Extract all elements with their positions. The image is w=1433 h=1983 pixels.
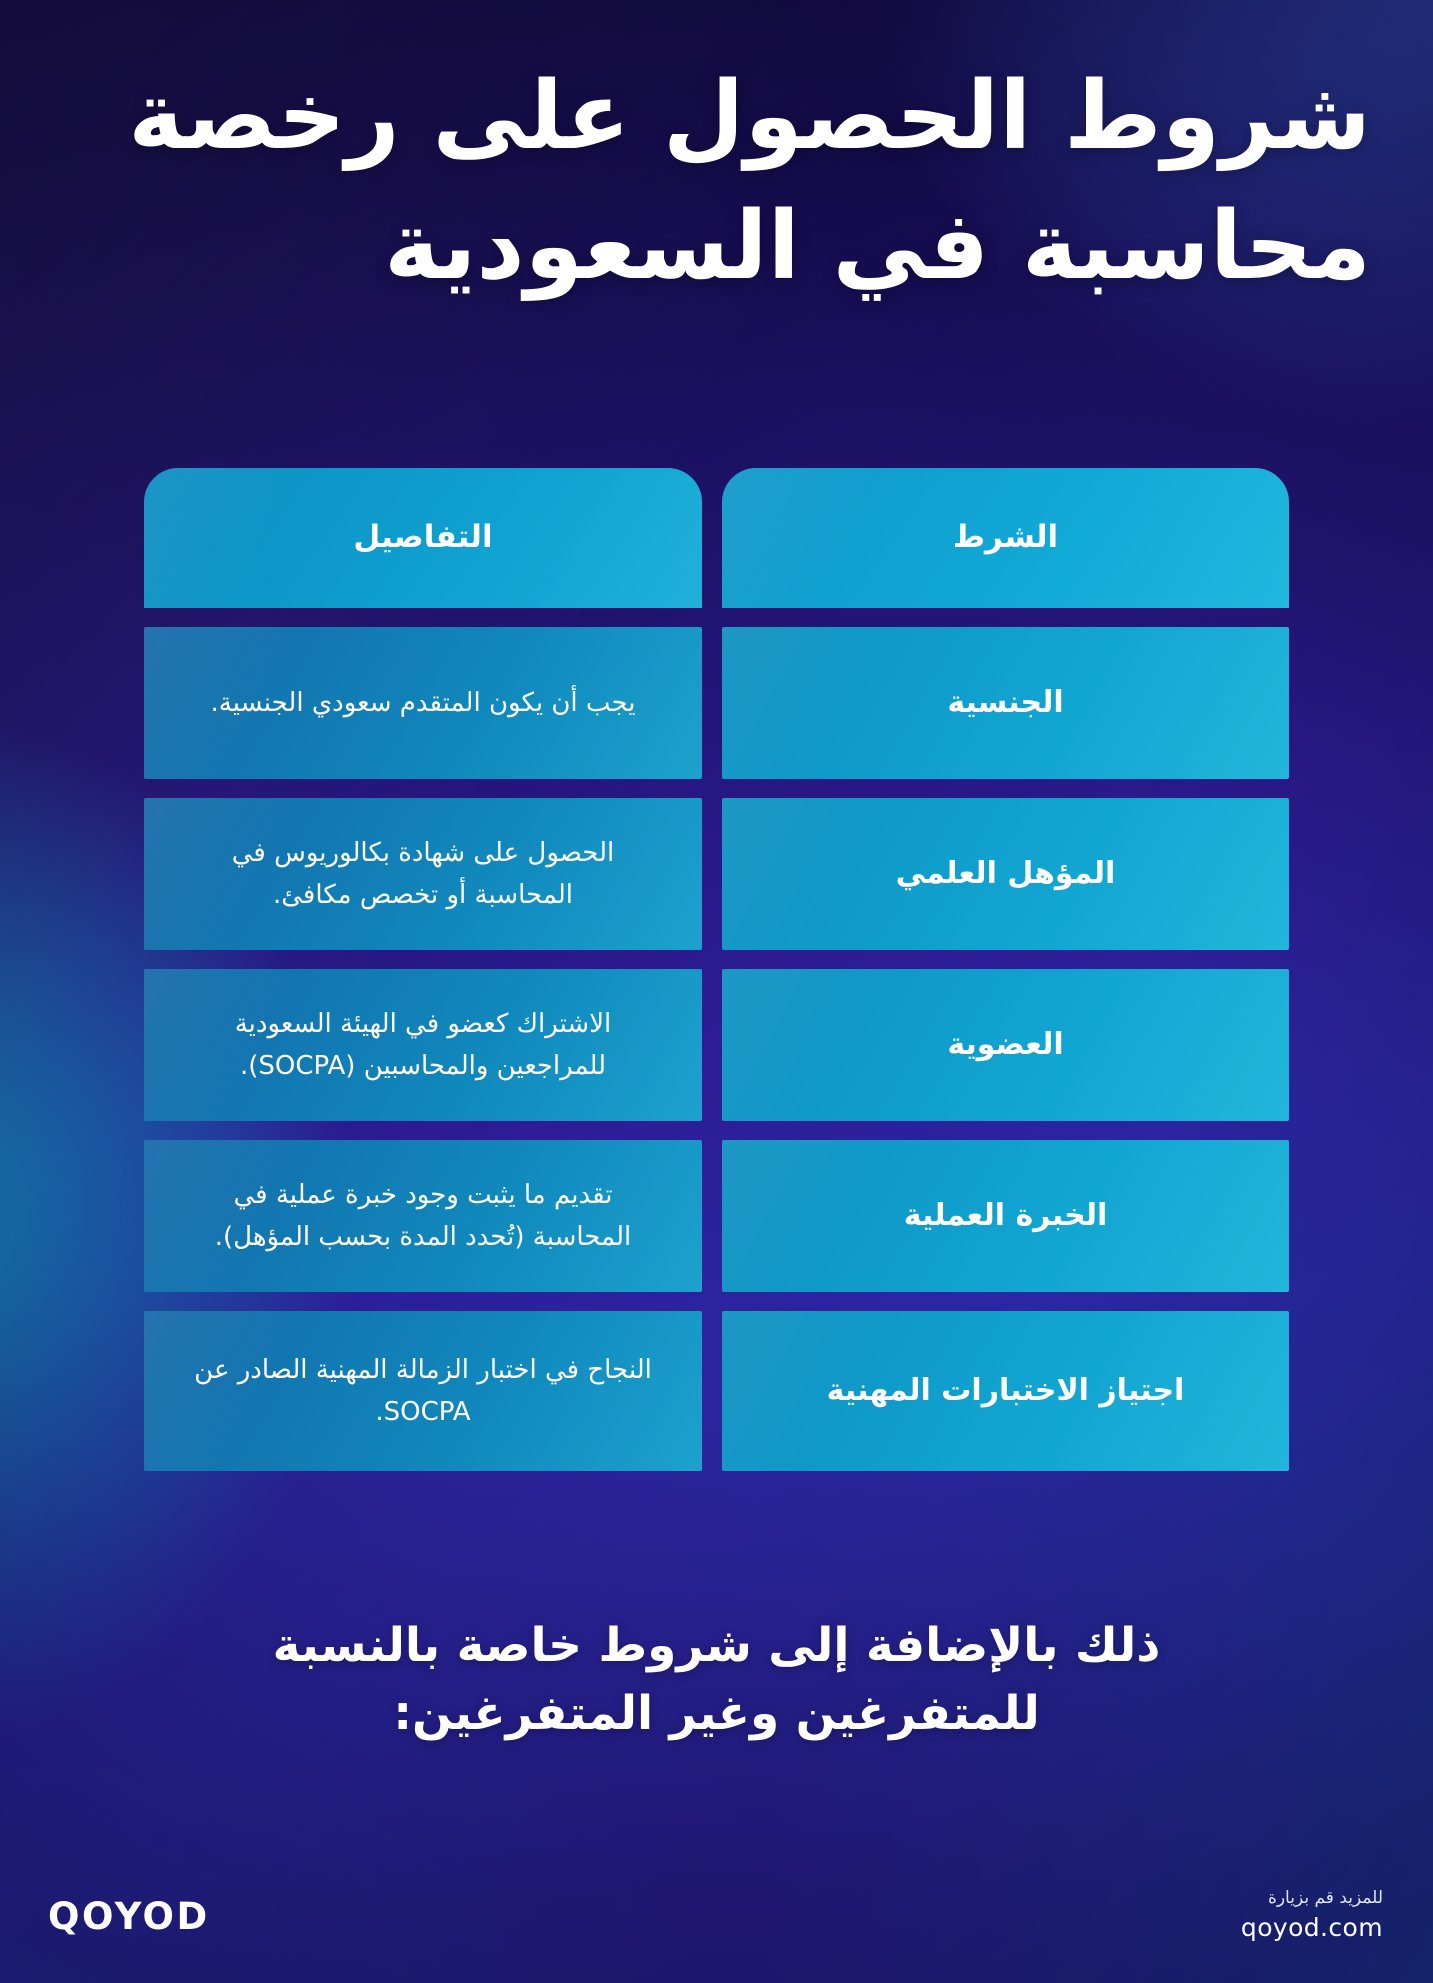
condition-label: المؤهل العلمي bbox=[896, 852, 1116, 896]
footnote: ذلك بالإضافة إلى شروط خاصة بالنسبة للمتف… bbox=[150, 1612, 1283, 1748]
table-row: الجنسية يجب أن يكون المتقدم سعودي الجنسي… bbox=[144, 627, 1289, 779]
footer-bar: QOYOD للمزيد قم بزيارة qoyod.com bbox=[0, 1849, 1433, 1983]
condition-label: الجنسية bbox=[947, 681, 1063, 725]
table-row: اجتياز الاختبارات المهنية النجاح في اختب… bbox=[144, 1311, 1289, 1471]
table-header-condition: الشرط bbox=[722, 468, 1289, 608]
qoyod-logo: QOYOD bbox=[48, 1895, 210, 1938]
details-text: الحصول على شهادة بكالوريوس في المحاسبة أ… bbox=[184, 832, 662, 916]
table-header-details: التفاصيل bbox=[144, 468, 702, 608]
footer-website-url[interactable]: qoyod.com bbox=[1241, 1910, 1383, 1946]
details-text: يجب أن يكون المتقدم سعودي الجنسية. bbox=[211, 682, 636, 724]
requirements-table: الشرط التفاصيل الجنسية يجب أن يكون المتق… bbox=[144, 468, 1289, 1471]
condition-label: العضوية bbox=[947, 1023, 1063, 1067]
footer-visit-note: للمزيد قم بزيارة qoyod.com bbox=[1241, 1886, 1383, 1946]
footnote-line-1: ذلك بالإضافة إلى شروط خاصة بالنسبة bbox=[150, 1612, 1283, 1680]
details-text: الاشتراك كعضو في الهيئة السعودية للمراجع… bbox=[184, 1003, 662, 1087]
table-cell-details: الاشتراك كعضو في الهيئة السعودية للمراجع… bbox=[144, 969, 702, 1121]
details-text: النجاح في اختبار الزمالة المهنية الصادر … bbox=[184, 1349, 662, 1433]
table-row: العضوية الاشتراك كعضو في الهيئة السعودية… bbox=[144, 969, 1289, 1121]
condition-label: الخبرة العملية bbox=[904, 1194, 1108, 1238]
footnote-line-2: للمتفرغين وغير المتفرغين: bbox=[150, 1680, 1283, 1748]
table-cell-condition: المؤهل العلمي bbox=[722, 798, 1289, 950]
table-header-details-label: التفاصيل bbox=[353, 516, 492, 559]
table-cell-details: النجاح في اختبار الزمالة المهنية الصادر … bbox=[144, 1311, 702, 1471]
table-cell-condition: العضوية bbox=[722, 969, 1289, 1121]
table-cell-condition: اجتياز الاختبارات المهنية bbox=[722, 1311, 1289, 1471]
page-title: شروط الحصول على رخصة محاسبة في السعودية bbox=[62, 52, 1371, 311]
title-line-1: شروط الحصول على رخصة bbox=[62, 52, 1371, 182]
table-row: المؤهل العلمي الحصول على شهادة بكالوريوس… bbox=[144, 798, 1289, 950]
table-cell-condition: الجنسية bbox=[722, 627, 1289, 779]
footer-visit-label: للمزيد قم بزيارة bbox=[1241, 1886, 1383, 1910]
table-cell-details: يجب أن يكون المتقدم سعودي الجنسية. bbox=[144, 627, 702, 779]
table-cell-details: تقديم ما يثبت وجود خبرة عملية في المحاسب… bbox=[144, 1140, 702, 1292]
table-header-row: الشرط التفاصيل bbox=[144, 468, 1289, 608]
infographic-poster: شروط الحصول على رخصة محاسبة في السعودية … bbox=[0, 0, 1433, 1983]
details-text: تقديم ما يثبت وجود خبرة عملية في المحاسب… bbox=[184, 1174, 662, 1258]
title-line-2: محاسبة في السعودية bbox=[62, 182, 1371, 312]
table-cell-condition: الخبرة العملية bbox=[722, 1140, 1289, 1292]
condition-label: اجتياز الاختبارات المهنية bbox=[827, 1369, 1185, 1413]
table-header-condition-label: الشرط bbox=[953, 516, 1058, 559]
table-cell-details: الحصول على شهادة بكالوريوس في المحاسبة أ… bbox=[144, 798, 702, 950]
table-row: الخبرة العملية تقديم ما يثبت وجود خبرة ع… bbox=[144, 1140, 1289, 1292]
